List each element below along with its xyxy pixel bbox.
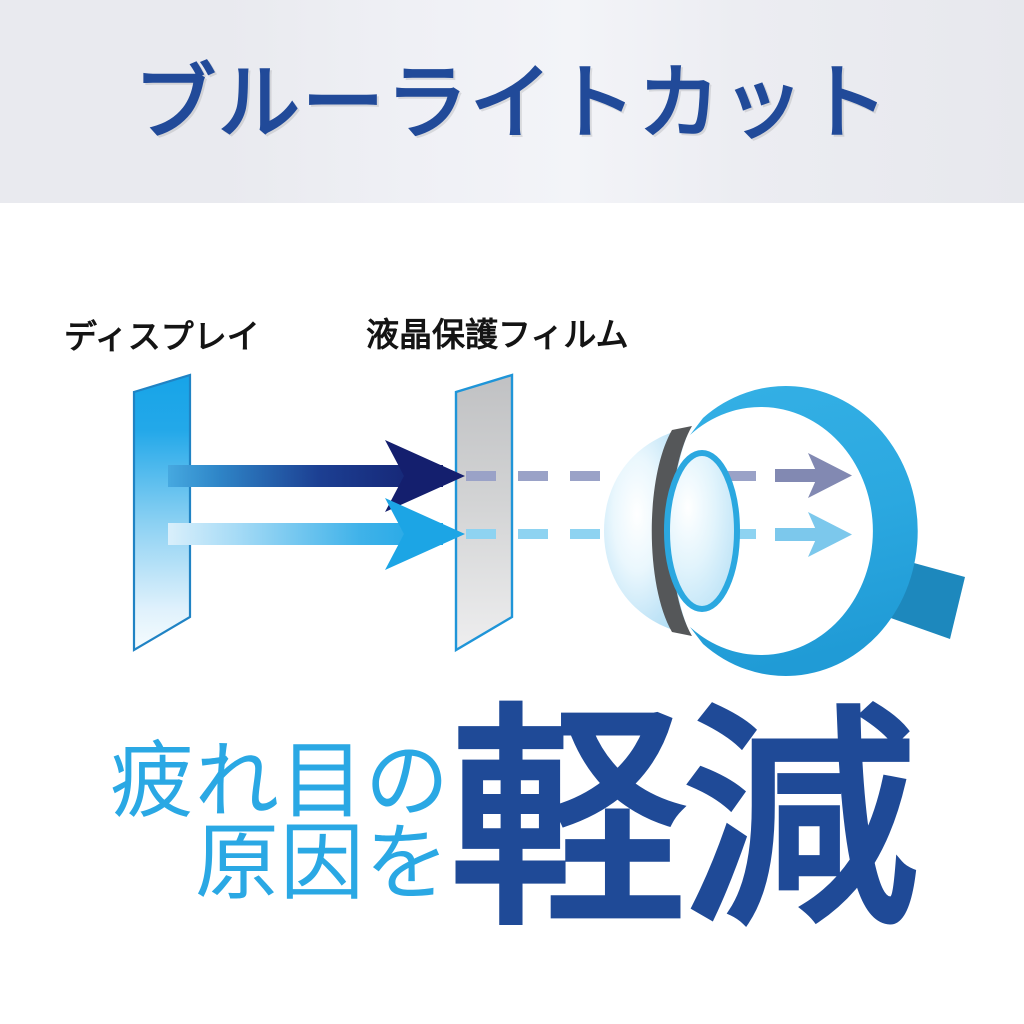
display-label: ディスプレイ	[64, 320, 260, 353]
copy-highlight: 軽減	[450, 710, 916, 933]
display-panel	[134, 375, 190, 650]
page-title: ブルーライトカット	[134, 63, 890, 145]
lens	[667, 453, 737, 609]
copy-small-block: 疲れ目の 原因を	[95, 740, 450, 905]
eye-cross-section	[604, 386, 965, 676]
visible-light-arrow	[168, 498, 465, 570]
header-band: ブルーライトカット	[0, 0, 1024, 203]
film-label: 液晶保護フィルム	[366, 318, 629, 351]
inner-arrow-upper	[775, 453, 852, 498]
copy-line-2: 原因を	[95, 822, 450, 904]
bottom-copy: 疲れ目の 原因を 軽減	[0, 715, 1024, 995]
inner-arrow-lower	[775, 512, 852, 557]
film-panel	[456, 375, 512, 650]
blue-light-arrow	[168, 440, 465, 512]
poster-canvas: ブルーライトカット ディスプレイ 液晶保護フィルム	[0, 0, 1024, 1024]
copy-line-1: 疲れ目の	[95, 740, 450, 822]
